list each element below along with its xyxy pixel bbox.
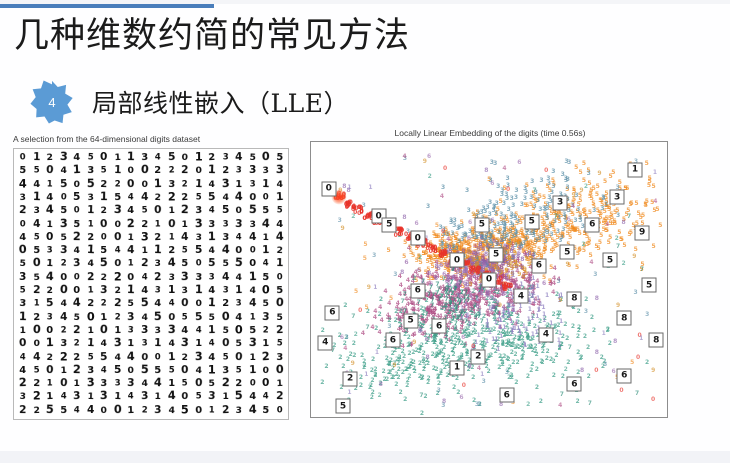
digit-thumbnail: 4 [318,335,333,350]
digit-cell: 5 [16,164,30,178]
scatter-point: 3 [504,251,508,257]
digit-cell: 3 [233,165,245,177]
scatter-point: 7 [457,339,461,345]
scatter-point: 3 [505,176,509,182]
digit-cell: 1 [29,150,44,164]
digit-cell: 5 [204,257,219,272]
scatter-point: 7 [506,328,510,334]
digit-cell: 3 [177,336,193,352]
digit-cell: 0 [110,257,124,271]
digit-cell: 2 [57,325,69,337]
digit-cell: 2 [97,205,110,217]
scatter-point: 3 [476,211,480,217]
scatter-point: 5 [634,247,638,253]
digit-cell: 4 [165,404,178,417]
scatter-point: 6 [463,269,467,275]
digit-cell: 3 [152,258,164,270]
scatter-point: 2 [576,399,580,405]
scatter-point: 2 [535,385,539,391]
digit-cell: 5 [70,217,84,231]
scatter-point: 2 [608,341,612,347]
digit-cell: 2 [137,217,151,231]
digit-cell: 4 [123,350,139,365]
scatter-point: 3 [536,198,540,204]
scatter-point: 2 [359,375,363,381]
digit-cell: 5 [259,271,273,285]
digit-cell: 4 [124,204,137,217]
scatter-point: 3 [482,379,486,385]
digit-cell: 5 [138,205,150,217]
scatter-point: 4 [589,260,593,266]
scatter-point: 4 [404,297,408,303]
digit-cell: 1 [43,257,57,271]
scatter-point: 2 [451,333,455,339]
digit-cell: 0 [232,204,245,217]
digit-cell: 1 [15,310,31,325]
scatter-point: 3 [502,215,506,221]
scatter-point: 8 [427,271,431,277]
digit-cell: 5 [30,165,42,177]
digits-sample-caption: A selection from the 64-dimensional digi… [13,134,303,144]
digit-cell: 3 [177,270,193,285]
digit-thumbnail: 6 [499,388,514,403]
digit-cell: 2 [71,338,83,350]
scatter-point: 4 [549,280,553,286]
scatter-point: 3 [513,216,517,222]
digit-cell: 2 [151,164,164,177]
digit-cell: 2 [15,403,30,417]
scatter-point: 2 [510,350,514,356]
scatter-point: 2 [508,342,512,348]
scatter-point: 7 [401,299,405,305]
digit-cell: 5 [259,204,273,218]
scatter-point: 2 [514,380,518,386]
digit-cell: 3 [259,165,272,178]
digit-cell: 0 [192,258,204,270]
digit-cell: 3 [16,191,29,204]
scatter-point: 6 [515,265,519,271]
scatter-point: 1 [532,299,536,305]
scatter-point: 9 [520,266,524,272]
scatter-point: 8 [621,220,625,226]
digit-cell: 0 [231,323,246,338]
digit-cell: 4 [138,311,151,324]
scatter-point: 8 [492,305,496,311]
digit-cell: 5 [57,231,70,244]
digit-cell: 5 [177,403,192,418]
scatter-point: 6 [567,217,571,223]
digit-cell: 3 [30,205,42,217]
scatter-point: 7 [482,286,486,292]
scatter-point: 2 [526,374,530,380]
scatter-point: 5 [595,192,599,198]
scatter-point: 3 [465,188,469,194]
digit-cell: 3 [246,218,259,230]
digit-thumbnail: 6 [585,217,600,232]
digit-cell: 2 [98,298,110,310]
digit-cell: 4 [206,338,218,350]
scatter-point: 3 [449,220,453,226]
scatter-point: 2 [422,367,426,373]
digit-cell: 1 [71,378,83,390]
digit-cell: 3 [245,164,259,178]
scatter-point: 5 [592,186,596,192]
scatter-point: 2 [502,354,506,360]
scatter-point: 5 [634,201,638,207]
scatter-point: 7 [458,301,462,307]
scatter-point: 4 [386,313,390,319]
digit-cell: 4 [232,271,245,283]
digit-cell: 0 [97,151,111,165]
scatter-point: 8 [499,402,503,408]
scatter-point: 4 [605,222,609,228]
scatter-point: 1 [559,319,563,325]
digit-thumbnail: 0 [321,181,336,196]
digit-cell: 1 [150,337,165,352]
scatter-point: 4 [558,403,562,409]
digit-cell: 3 [219,218,231,230]
scatter-point: 9 [565,262,569,268]
digit-cell: 3 [152,285,164,297]
digit-cell: 1 [164,284,178,298]
digits-sample-frame: 0123450113450123450555041351002220123333… [13,148,289,420]
scatter-point: 3 [497,230,501,236]
digit-cell: 5 [273,311,285,323]
scatter-point: 5 [655,207,659,213]
scatter-point: 1 [347,185,351,191]
digit-cell: 2 [178,351,191,363]
digit-cell: 5 [204,190,219,205]
digit-cell: 0 [192,165,205,178]
scatter-point: 2 [412,276,416,282]
scatter-point: 7 [444,293,448,299]
digit-cell: 3 [151,324,164,337]
digit-cell: 5 [179,312,190,323]
digit-cell: 1 [272,190,287,205]
digit-cell: 4 [111,245,123,257]
digit-cell: 0 [273,272,285,284]
scatter-point: 4 [571,204,575,210]
scatter-point: 9 [392,363,396,369]
digit-cell: 0 [96,217,111,232]
scatter-point: 2 [400,349,404,355]
digit-cell: 1 [164,350,179,365]
digit-cell: 3 [137,323,151,337]
digit-cell: 1 [258,244,273,258]
scatter-point: 2 [396,375,400,381]
digit-cell: 4 [273,178,286,190]
digit-cell: 0 [231,350,246,365]
digit-cell: 1 [231,283,246,297]
scatter-point: 5 [609,212,613,218]
scatter-point: 5 [566,231,570,237]
scatter-point: 2 [359,383,363,389]
scatter-point: 2 [540,360,544,366]
digit-thumbnail: 6 [385,333,400,348]
digit-cell: 3 [69,257,84,272]
digit-cell: 4 [177,230,192,245]
digit-cell: 3 [123,376,138,391]
digit-cell: 3 [164,177,178,191]
scatter-point: 9 [616,303,620,309]
scatter-point: 2 [362,359,366,365]
digit-cell: 5 [178,257,192,270]
scatter-point: 2 [379,297,383,303]
digit-cell: 5 [273,205,285,217]
scatter-point: 3 [532,252,536,258]
digit-cell: 1 [165,232,177,244]
digit-cell: 4 [245,390,259,403]
scatter-point: 4 [361,331,365,337]
digit-cell: 5 [218,204,232,218]
digit-cell: 5 [205,311,218,323]
scatter-point: 1 [347,390,351,396]
scatter-point: 7 [417,300,421,306]
scatter-point: 5 [630,360,634,366]
scatter-point: 8 [580,368,584,374]
scatter-point: 5 [630,201,634,207]
digit-cell: 5 [205,377,218,390]
digit-cell: 1 [272,257,287,271]
scatter-point: 3 [502,221,506,227]
scatter-point: 3 [492,204,496,210]
digit-cell: 5 [150,310,166,325]
scatter-point: 3 [551,169,555,175]
digit-thumbnail: 5 [489,247,504,262]
bottom-strip [0,451,730,463]
scatter-point: 1 [525,327,529,333]
scatter-point: 3 [645,312,649,318]
digit-thumbnail: 9 [635,225,650,240]
scatter-point: 0 [594,368,598,374]
scatter-point: 7 [635,391,639,397]
digit-cell: 1 [83,336,98,351]
digit-cell: 1 [125,258,137,270]
scatter-point: 6 [490,181,494,187]
digit-cell: 4 [70,245,83,257]
scatter-point: 3 [616,213,620,219]
scatter-point: 8 [419,328,423,334]
scatter-point: 9 [504,268,508,274]
scatter-point: 2 [354,332,358,338]
scatter-point: 4 [378,305,382,311]
digit-cell: 1 [192,337,205,350]
scatter-point: 1 [558,343,562,349]
digit-cell: 1 [204,323,219,337]
digit-cell: 0 [98,232,110,244]
digit-cell: 4 [98,338,110,350]
digit-cell: 4 [260,258,272,270]
scatter-point: 3 [496,222,500,228]
scatter-point: 2 [377,393,381,399]
digit-cell: 1 [246,311,258,323]
digit-cell: 2 [260,325,272,337]
digit-cell: 2 [177,164,192,178]
scatter-point: 1 [532,291,536,297]
digit-cell: 4 [15,177,30,192]
scatter-point: 7 [430,303,434,309]
scatter-point: 4 [343,346,347,352]
scatter-point: 5 [389,296,393,302]
digit-cell: 1 [31,298,42,309]
digit-thumbnail: 5 [642,278,657,293]
digit-thumbnail: 3 [553,195,568,210]
digit-thumbnail: 5 [336,399,351,414]
scatter-point: 3 [457,239,461,245]
scatter-point: 2 [352,353,356,359]
scatter-point: 2 [406,343,410,349]
digit-cell: 3 [16,270,30,284]
digit-cell: 4 [206,178,218,190]
digit-cell: 3 [69,390,84,405]
scatter-point: 2 [445,339,449,345]
scatter-point: 9 [558,298,562,304]
scatter-point: 2 [346,357,350,363]
scatter-point: 0 [443,166,447,172]
scatter-point: 2 [583,334,587,340]
scatter-point: 7 [477,314,481,320]
scatter-point: 3 [561,227,565,233]
scatter-point: 5 [594,244,598,250]
scatter-point: 9 [340,226,344,232]
scatter-point: 2 [418,361,422,367]
scatter-point: 0 [506,187,510,193]
scatter-point: 2 [578,356,582,362]
scatter-point: 0 [433,246,437,252]
digit-cell: 2 [29,283,44,298]
scatter-point: 8 [613,339,617,345]
digits-sample-figure: A selection from the 64-dimensional digi… [13,134,303,420]
scatter-point: 2 [606,328,610,334]
digit-cell: 5 [96,350,111,365]
scatter-point: 4 [553,266,557,272]
scatter-point: 1 [485,339,489,345]
scatter-point: 7 [568,345,572,351]
digit-cell: 1 [85,218,96,229]
scatter-point: 7 [442,277,446,283]
scatter-point: 3 [557,279,561,285]
digit-cell: 5 [125,298,137,310]
digit-cell: 3 [123,310,138,325]
digit-cell: 0 [109,403,125,418]
scatter-point: 7 [588,401,592,407]
scatter-point: 3 [493,161,497,167]
digit-cell: 5 [192,192,204,204]
scatter-point: 3 [592,208,596,214]
scatter-point: 9 [579,188,583,194]
digit-cell: 5 [56,404,70,417]
digit-cell: 3 [96,389,112,404]
scatter-point: 8 [400,270,404,276]
digit-cell: 4 [57,391,69,403]
scatter-point: 5 [543,244,547,250]
digit-cell: 0 [246,245,258,257]
scatter-point: 4 [412,332,416,338]
scatter-point: 3 [508,229,512,235]
digit-thumbnail: 6 [617,368,632,383]
digits-sample-grid: 0123450113450123450555041351002220123333… [16,151,286,417]
scatter-point: 2 [407,351,411,357]
digit-cell: 5 [98,165,110,177]
digit-cell: 3 [56,243,71,258]
digit-cell: 5 [191,244,205,258]
digit-cell: 0 [260,192,271,203]
digit-cell: 5 [219,351,231,363]
scatter-point: 3 [505,370,509,376]
scatter-point: 3 [533,204,537,210]
scatter-point: 1 [519,282,523,288]
digit-cell: 1 [204,163,220,179]
scatter-point: 6 [498,269,502,275]
scatter-point: 1 [368,185,372,191]
scatter-point: 2 [501,342,505,348]
scatter-point: 2 [397,367,401,373]
scatter-point: 3 [509,221,513,227]
scatter-point: 6 [468,220,472,226]
scatter-point: 0 [358,308,362,314]
scatter-point: 3 [503,234,507,240]
scatter-point: 7 [464,290,468,296]
scatter-point: 2 [394,382,398,388]
lle-scatter-plot: 5555555555555555555555555555555555555555… [310,141,668,418]
digit-cell: 5 [30,271,43,284]
digit-thumbnail: 5 [403,313,418,328]
digit-cell: 4 [231,150,246,165]
scatter-point: 7 [472,305,476,311]
digit-cell: 5 [30,365,42,377]
scatter-point: 3 [567,160,571,166]
digit-cell: 3 [137,390,152,405]
digit-cell: 3 [272,350,286,363]
digit-cell: 0 [17,152,29,164]
scatter-point: 6 [461,335,465,341]
scatter-point: 3 [556,229,560,235]
scatter-point: 8 [457,293,461,299]
digit-cell: 0 [57,192,69,204]
digit-cell: 1 [123,150,139,165]
scatter-point: 3 [584,309,588,315]
scatter-point: 9 [632,254,636,260]
scatter-point: 2 [552,359,556,365]
scatter-point: 4 [473,244,477,250]
digit-cell: 0 [110,230,125,244]
digit-cell: 4 [205,350,219,364]
scatter-point: 2 [484,364,488,370]
digit-cell: 0 [274,405,285,416]
scatter-point: 5 [658,223,662,229]
digit-cell: 2 [43,151,56,164]
scatter-point: 2 [382,369,386,375]
digit-cell: 4 [205,244,218,257]
scatter-point: 2 [576,309,580,315]
digit-cell: 4 [271,230,287,246]
digit-cell: 3 [16,297,30,311]
digit-cell: 5 [179,245,191,257]
scatter-point: 3 [514,230,518,236]
scatter-point: 9 [423,159,427,165]
scatter-point: 1 [488,330,492,336]
scatter-point: 2 [425,298,429,304]
scatter-point: 3 [544,239,548,245]
scatter-point: 7 [419,393,423,399]
scatter-point: 1 [528,277,532,283]
scatter-point: 5 [364,305,368,311]
scatter-point: 6 [427,154,431,160]
digit-cell: 0 [150,204,165,218]
digit-cell: 1 [259,337,273,350]
scatter-point: 0 [475,269,479,275]
scatter-point: 2 [554,353,558,359]
